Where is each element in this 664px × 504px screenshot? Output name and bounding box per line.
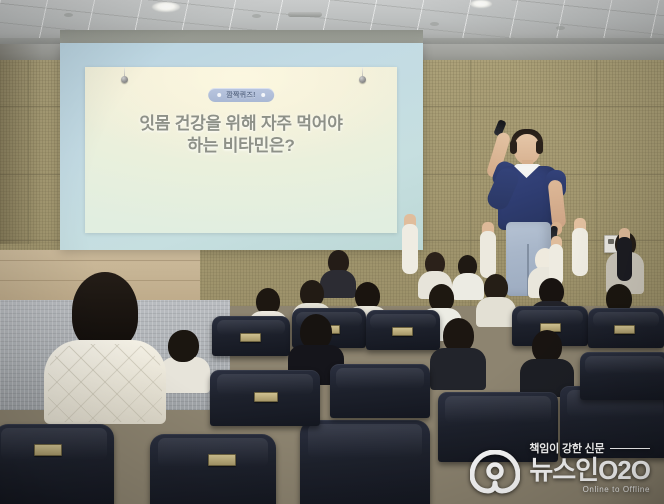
foreground-adult: [44, 272, 166, 422]
ceiling-fixture: [252, 14, 261, 18]
seat-number-plate: [34, 444, 62, 456]
presenter-hair: [510, 140, 517, 154]
ceiling-fixture: [430, 22, 439, 26]
ceiling-light-icon: [152, 2, 180, 12]
auditorium-seat[interactable]: [588, 308, 664, 348]
ceiling-fixture: [556, 26, 565, 30]
seat-number-plate: [614, 325, 635, 334]
audience-person: [156, 330, 210, 390]
person-head: [72, 272, 138, 350]
dot-icon: [217, 93, 221, 97]
watermark-subtitle: Online to Offline: [583, 485, 650, 494]
person-body: [430, 348, 486, 390]
pushpin-icon: [359, 76, 366, 83]
auditorium-seat[interactable]: [580, 352, 664, 400]
slide-title-line-2: 하는 비타민은?: [93, 135, 389, 157]
seat-highlight: [445, 396, 551, 423]
newsin-o2o-logo-icon: [470, 450, 520, 494]
auditorium-seat[interactable]: [210, 370, 320, 426]
watermark-tagline-row: 책임이 강한 신문: [529, 440, 650, 456]
watermark-rule: [610, 448, 650, 449]
person-arm: [617, 237, 632, 281]
quiz-badge-label: 깜짝퀴즈!: [226, 90, 256, 100]
raised-hand-group: [478, 222, 500, 278]
auditorium-seat[interactable]: [366, 310, 440, 350]
audience-student: [430, 318, 486, 390]
auditorium-seat[interactable]: [150, 434, 276, 504]
seat-number-plate: [392, 327, 413, 336]
watermark-tagline: 책임이 강한 신문: [529, 440, 604, 456]
ceiling-fixture: [64, 13, 73, 17]
ceiling-light-icon: [470, 0, 492, 8]
raised-hand-group: [570, 218, 592, 276]
auditorium-seat[interactable]: [212, 316, 290, 356]
air-vent-icon: [288, 12, 322, 17]
jacket-quilt-texture: [48, 344, 162, 422]
pushpin-icon: [121, 76, 128, 83]
person-arm: [480, 231, 496, 278]
raised-hand-group: [616, 228, 636, 280]
person-arm: [572, 228, 588, 276]
presentation-slide: 깜짝퀴즈! 잇몸 건강을 위해 자주 먹어야 하는 비타민은?: [85, 67, 397, 233]
watermark-brand: 뉴스인O2O: [529, 457, 650, 483]
person-arm: [402, 224, 418, 274]
slide-title-line-1: 잇몸 건강을 위해 자주 먹어야: [93, 113, 389, 135]
auditorium-seat[interactable]: [330, 364, 430, 418]
seat-number-plate: [254, 392, 278, 402]
wall-seam: [596, 44, 597, 306]
dot-icon: [261, 93, 265, 97]
seat-highlight: [308, 424, 422, 458]
watermark-text: 책임이 강한 신문 뉴스인O2O Online to Offline: [529, 440, 650, 494]
person-head: [168, 330, 198, 362]
seat-highlight: [585, 356, 664, 374]
seat-number-plate: [208, 454, 236, 466]
slide-title: 잇몸 건강을 위해 자주 먹어야 하는 비타민은?: [93, 113, 389, 158]
presenter-hair: [536, 140, 543, 154]
seat-number-plate: [240, 333, 261, 342]
photo-canvas: 깜짝퀴즈! 잇몸 건강을 위해 자주 먹어야 하는 비타민은?: [0, 0, 664, 504]
projection-screen: 깜짝퀴즈! 잇몸 건강을 위해 자주 먹어야 하는 비타민은?: [60, 43, 423, 250]
watermark: 책임이 강한 신문 뉴스인O2O Online to Offline: [470, 440, 650, 494]
auditorium-seat[interactable]: [300, 420, 430, 504]
wall-shadow: [0, 44, 42, 244]
raised-hand-group: [400, 214, 422, 274]
quiz-badge: 깜짝퀴즈!: [208, 88, 274, 102]
seat-highlight: [336, 368, 424, 389]
auditorium-seat[interactable]: [0, 424, 114, 504]
